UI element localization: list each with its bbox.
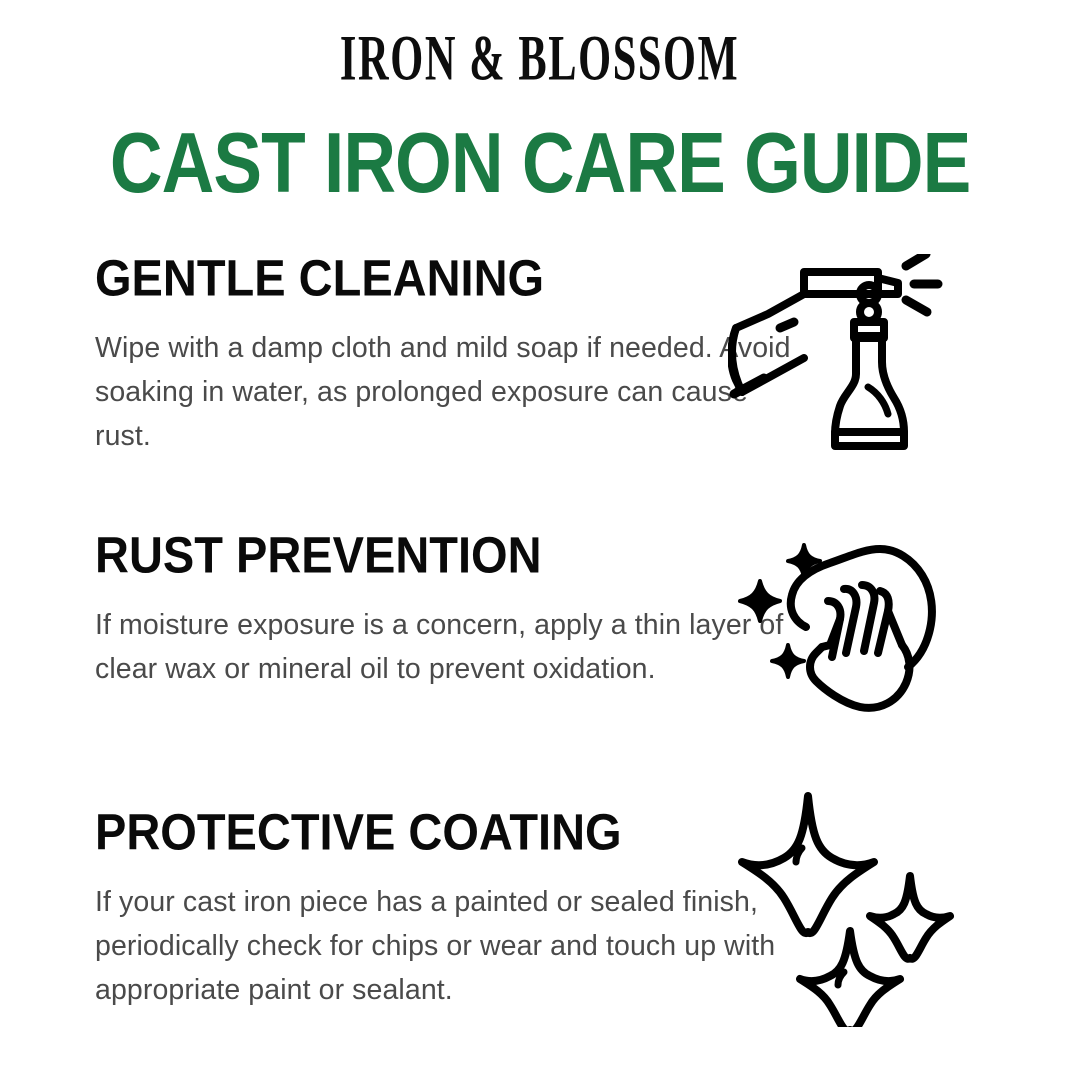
section-rust-prevention: RUST PREVENTION If moisture exposure is …: [95, 525, 985, 691]
section-text: Wipe with a damp cloth and mild soap if …: [95, 326, 805, 458]
page-title-text: CAST IRON CARE GUIDE: [110, 117, 970, 211]
brand-logo: IRON & BLOSSOM: [0, 28, 1080, 90]
section-heading: GENTLE CLEANING: [95, 248, 985, 308]
section-protective-coating: PROTECTIVE COATING If your cast iron pie…: [95, 802, 985, 1012]
page-title: CAST IRON CARE GUIDE: [0, 122, 1080, 206]
section-text: If your cast iron piece has a painted or…: [95, 880, 810, 1012]
brand-name: IRON & BLOSSOM: [340, 21, 739, 97]
care-guide-page: IRON & BLOSSOM CAST IRON CARE GUIDE GENT…: [0, 0, 1080, 1080]
section-text: If moisture exposure is a concern, apply…: [95, 603, 805, 691]
section-heading: PROTECTIVE COATING: [95, 802, 985, 862]
section-gentle-cleaning: GENTLE CLEANING Wipe with a damp cloth a…: [95, 248, 985, 458]
section-heading: RUST PREVENTION: [95, 525, 985, 585]
